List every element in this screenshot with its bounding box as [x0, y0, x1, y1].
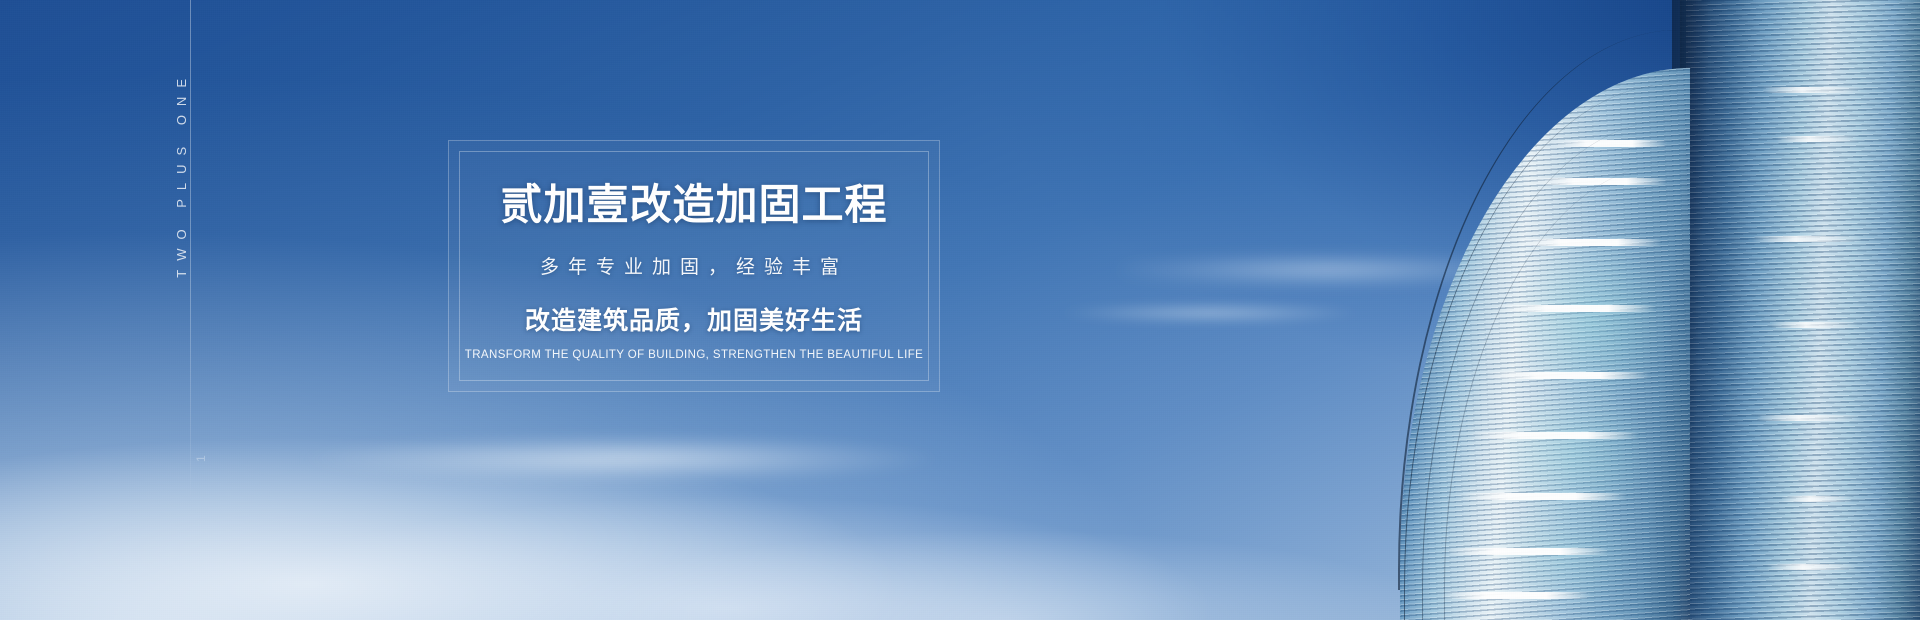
- cloud-wisp: [240, 430, 1000, 488]
- back-glass-tower: [1680, 0, 1920, 620]
- tower-window-glints: [1400, 68, 1690, 620]
- front-glass-tower: [1400, 68, 1690, 620]
- sky-deep-gradient: [820, 0, 1920, 430]
- photo-grain-overlay: [0, 0, 1920, 620]
- hero-subtitle: 多年专业加固，经验丰富: [540, 252, 848, 279]
- hero-english-caption: TRANSFORM THE QUALITY OF BUILDING, STREN…: [465, 349, 923, 361]
- brand-rail: TWO PLUS ONE 1: [150, 0, 260, 620]
- hero-banner: TWO PLUS ONE 1 贰加壹改造加固工程 多年专业加固，经验丰富 改造建…: [0, 0, 1920, 620]
- brand-mark-number: 1: [194, 455, 208, 462]
- tower-facade-bands: [1400, 68, 1690, 620]
- brand-vertical-text: TWO PLUS ONE: [174, 70, 189, 278]
- tower-facade-bands: [1680, 0, 1920, 620]
- vertical-divider-line: [190, 0, 191, 500]
- tower-edge-shadow: [1680, 0, 1920, 620]
- tower-separation-shadow: [1672, 0, 1686, 620]
- tower-window-glints: [1680, 0, 1920, 620]
- tower-glass-reflection: [1400, 68, 1690, 620]
- hero-text-block: 贰加壹改造加固工程 多年专业加固，经验丰富 改造建筑品质，加固美好生活 TRAN…: [448, 140, 940, 392]
- tower-curved-edge: [1398, 30, 1678, 590]
- skyscraper-group: [1120, 0, 1920, 620]
- cloud-wisp: [1120, 250, 1640, 290]
- tower-cable-lines: [1400, 60, 1700, 620]
- hero-tagline: 改造建筑品质，加固美好生活: [525, 301, 863, 337]
- cloud-wisp: [1020, 300, 1400, 326]
- hero-title: 贰加壹改造加固工程: [500, 182, 887, 227]
